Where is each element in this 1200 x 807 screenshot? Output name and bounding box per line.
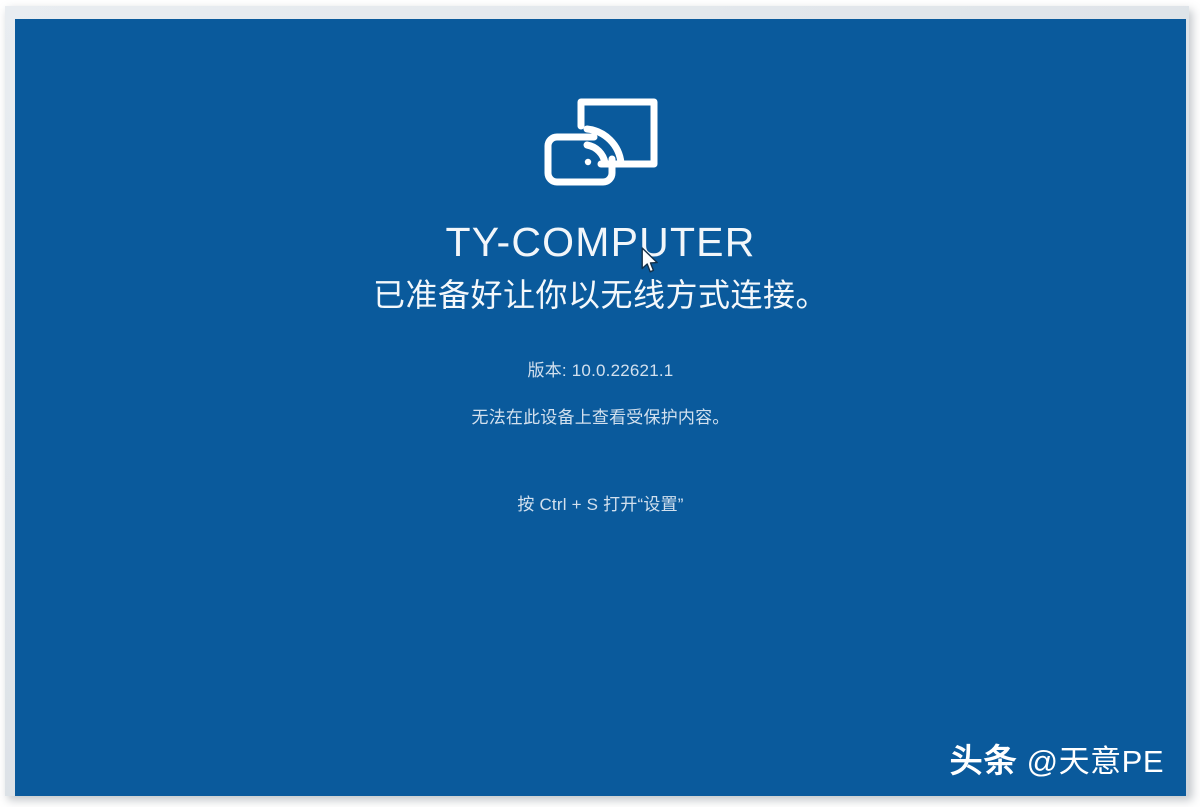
watermark-handle: @天意PE — [1027, 736, 1164, 781]
wireless-display-cast-icon — [541, 19, 661, 189]
ready-to-connect-message: 已准备好让你以无线方式连接。 — [15, 276, 1186, 314]
device-name: TY-COMPUTER — [15, 221, 1186, 264]
connect-content-stack: TY-COMPUTER 已准备好让你以无线方式连接。 版本: 10.0.2262… — [15, 19, 1186, 515]
watermark-brand: 头条 — [950, 734, 1018, 782]
protected-content-notice: 无法在此设备上查看受保护内容。 — [15, 403, 1186, 428]
screenshot-page: TY-COMPUTER 已准备好让你以无线方式连接。 版本: 10.0.2262… — [0, 0, 1200, 807]
connect-app-screen: TY-COMPUTER 已准备好让你以无线方式连接。 版本: 10.0.2262… — [15, 19, 1186, 796]
settings-shortcut-hint: 按 Ctrl + S 打开“设置” — [15, 490, 1186, 515]
version-label: 版本: 10.0.22621.1 — [15, 356, 1186, 381]
screenshot-frame: TY-COMPUTER 已准备好让你以无线方式连接。 版本: 10.0.2262… — [5, 6, 1189, 796]
watermark: 头条 @天意PE — [950, 734, 1164, 782]
